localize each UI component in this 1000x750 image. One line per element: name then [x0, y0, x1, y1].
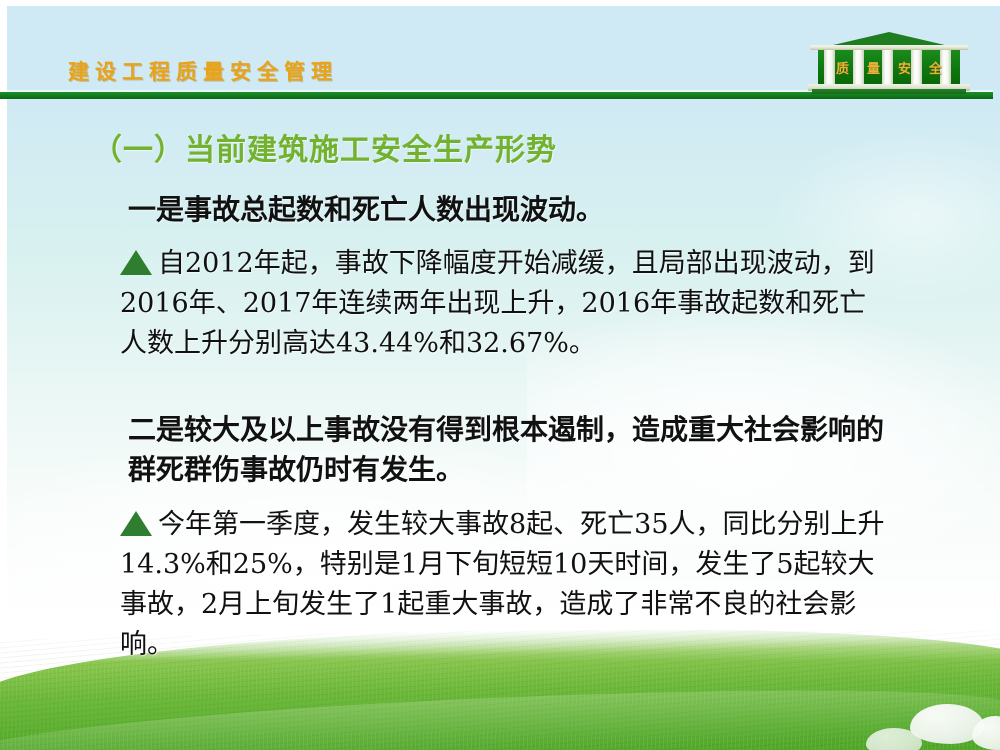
temple-column-icon	[882, 50, 893, 84]
quality-safety-temple-logo: 质 量 安 全	[808, 32, 970, 96]
paragraph-three-text: 二是较大及以上事故没有得到根本遏制，造成重大社会影响的群死群伤事故仍时有发生。	[128, 413, 884, 486]
paragraph-four: 今年第一季度，发生较大事故8起、死亡35人，同比分别上升14.3%和25%，特别…	[120, 505, 900, 665]
slide-canvas: 建设工程质量安全管理 质 量 安 全 （一）当前建筑施工安全生产形势 一是事故	[0, 0, 1000, 750]
temple-column-icon	[911, 50, 922, 84]
paragraph-three: 二是较大及以上事故没有得到根本遏制，造成重大社会影响的群死群伤事故仍时有发生。	[128, 410, 908, 490]
temple-column-icon	[853, 50, 864, 84]
slide-body: （一）当前建筑施工安全生产形势 一是事故总起数和死亡人数出现波动。 自2012年…	[0, 110, 1000, 670]
paragraph-two: 自2012年起，事故下降幅度开始减缓，且局部出现波动，到2016年、2017年连…	[120, 244, 892, 364]
paragraph-one-text: 一是事故总起数和死亡人数出现波动。	[128, 193, 604, 226]
header-title: 建设工程质量安全管理	[68, 62, 338, 83]
temple-base-icon	[812, 89, 966, 94]
green-triangle-bullet-icon	[120, 250, 152, 275]
section-heading: （一）当前建筑施工安全生产形势	[92, 125, 557, 169]
paragraph-four-text: 今年第一季度，发生较大事故8起、死亡35人，同比分别上升14.3%和25%，特别…	[120, 509, 885, 660]
slide-header: 建设工程质量安全管理 质 量 安 全	[0, 0, 1000, 110]
paragraph-one: 一是事故总起数和死亡人数出现波动。	[128, 190, 918, 230]
temple-column-icon	[940, 50, 951, 84]
temple-column-icon	[824, 50, 835, 84]
green-triangle-bullet-icon	[120, 511, 152, 536]
paragraph-two-text: 自2012年起，事故下降幅度开始减缓，且局部出现波动，到2016年、2017年连…	[120, 248, 875, 359]
